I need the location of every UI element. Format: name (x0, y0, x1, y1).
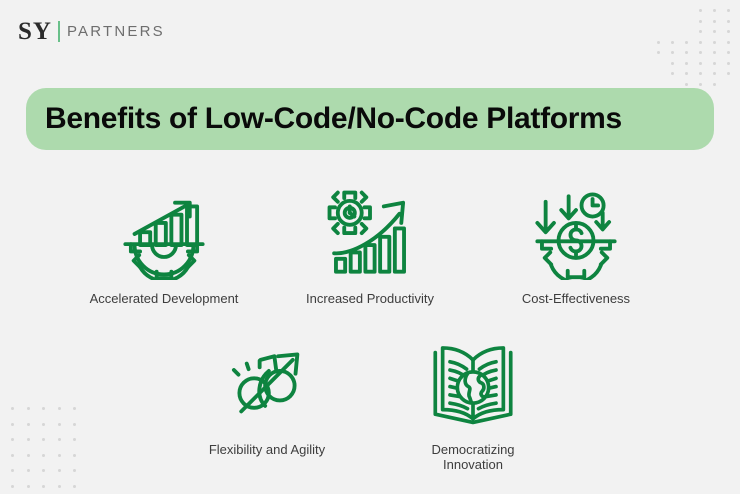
gear-bar-chart-growth-icon (116, 186, 212, 282)
decorative-dots-top-right (655, 0, 740, 80)
gear-clock-arrow-bars-icon (322, 186, 418, 282)
benefit-item-cost-effectiveness: Cost-Effectiveness (473, 186, 679, 306)
benefit-label: Cost-Effectiveness (522, 291, 630, 306)
benefits-row-top: Accelerated Development (0, 186, 740, 306)
benefits-row-bottom: Flexibility and Agility (0, 334, 740, 472)
benefit-label: Flexibility and Agility (209, 442, 325, 457)
open-book-globe-icon (425, 334, 521, 430)
benefit-item-accelerated-development: Accelerated Development (61, 186, 267, 306)
benefit-label: Democratizing Innovation (431, 442, 514, 472)
title-banner: Benefits of Low-Code/No-Code Platforms (26, 88, 714, 150)
logo-primary-text: SY (18, 19, 52, 44)
page-title: Benefits of Low-Code/No-Code Platforms (26, 102, 622, 136)
benefit-item-democratizing-innovation: Democratizing Innovation (370, 334, 576, 472)
gear-dollar-down-arrows-clock-icon (528, 186, 624, 282)
benefit-label: Accelerated Development (90, 291, 239, 306)
brand-logo: SY PARTNERS (18, 18, 165, 44)
benefit-item-increased-productivity: Increased Productivity (267, 186, 473, 306)
benefit-item-flexibility-and-agility: Flexibility and Agility (164, 334, 370, 472)
logo-divider (58, 21, 60, 42)
logo-secondary-text: PARTNERS (67, 24, 165, 39)
twisted-arrows-flexibility-icon (219, 334, 315, 430)
benefit-label: Increased Productivity (306, 291, 434, 306)
